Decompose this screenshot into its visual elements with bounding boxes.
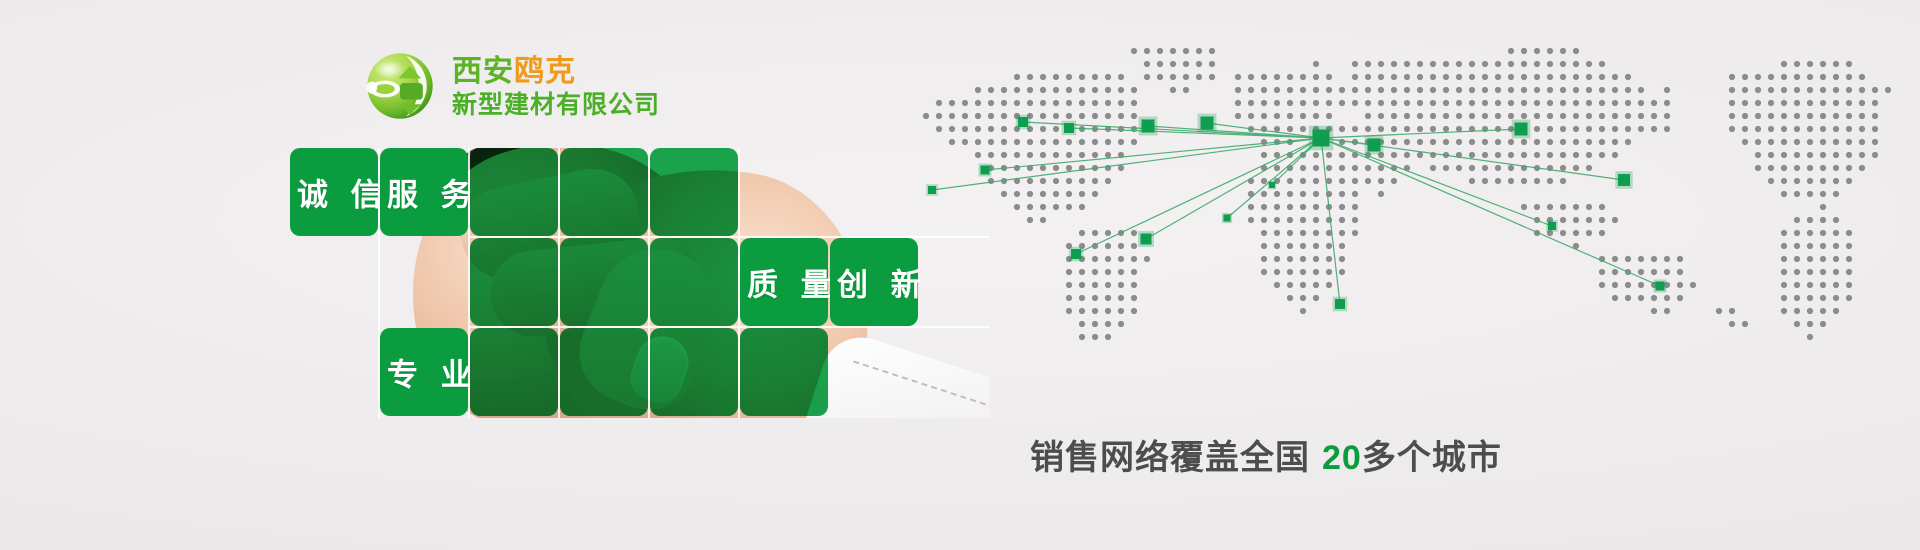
value-tile-label: 服 务 [380, 170, 468, 215]
map-dot-field [923, 48, 1891, 340]
value-tile: 诚 信 [290, 148, 378, 236]
grid-separator-vertical [648, 148, 650, 418]
sales-network-tagline: 销售网络覆盖全国20多个城市 [1030, 430, 1502, 479]
value-tile-label: 创 新 [830, 260, 918, 305]
company-brand: 鸥克 [514, 55, 576, 88]
company-name-line1: 西安鸥克 [452, 57, 660, 87]
grid-separator-horizontal [470, 326, 990, 328]
mosaic-tile [470, 148, 558, 236]
mosaic-tile [650, 148, 738, 236]
company-name-line2: 新型建材有限公司 [452, 93, 660, 118]
mosaic-tile [740, 328, 828, 416]
value-tile-label: 诚 信 [290, 170, 378, 215]
mosaic-tile [470, 238, 558, 326]
handshake-mosaic: 诚 信服 务质 量创 新专 业 [290, 148, 990, 418]
grid-separator-vertical [468, 148, 470, 418]
mosaic-tile [560, 148, 648, 236]
value-tile-label: 质 量 [740, 260, 828, 305]
tagline-prefix: 销售网络覆盖全国 [1030, 439, 1310, 477]
grid-separator-vertical [738, 148, 740, 418]
mosaic-tile [650, 238, 738, 326]
grid-separator-horizontal [470, 236, 990, 238]
tagline-suffix: 多个城市 [1362, 439, 1502, 477]
grid-separator-vertical [378, 148, 380, 418]
mosaic-tile [470, 328, 558, 416]
world-dot-map [880, 14, 1920, 344]
world-map-svg [880, 14, 1920, 344]
mosaic-tile [650, 328, 738, 416]
tagline-city-count: 20 [1322, 439, 1362, 477]
map-city-nodes [926, 114, 1666, 312]
promo-banner: 诚 信服 务质 量创 新专 业 [0, 0, 1920, 550]
mosaic-tile [560, 328, 648, 416]
grid-separator-vertical [558, 148, 560, 418]
map-connection-lines [932, 122, 1660, 304]
mosaic-tile [560, 238, 648, 326]
company-name-text: 西安鸥克 新型建材有限公司 [452, 55, 660, 118]
value-tile: 创 新 [830, 238, 918, 326]
company-globe-logo-icon [362, 48, 438, 124]
company-city: 西安 [452, 55, 514, 88]
company-logo[interactable]: 西安鸥克 新型建材有限公司 [362, 48, 660, 124]
globe-icon [362, 48, 438, 124]
value-tile: 服 务 [380, 148, 468, 236]
value-tile-label: 专 业 [380, 350, 468, 395]
value-tile: 专 业 [380, 328, 468, 416]
value-tile: 质 量 [740, 238, 828, 326]
